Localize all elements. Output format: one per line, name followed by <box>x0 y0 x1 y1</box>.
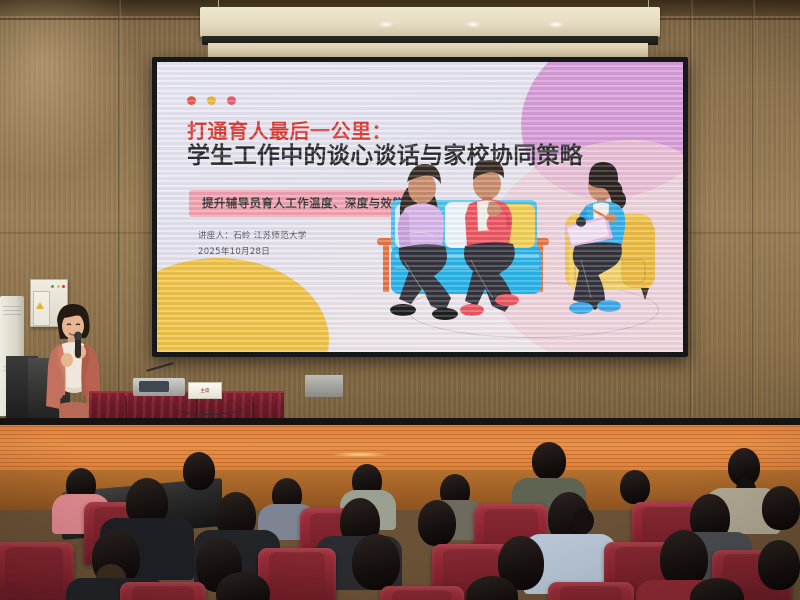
audience-head <box>352 534 400 590</box>
audience-head <box>532 442 566 480</box>
dot-red-icon <box>187 96 196 105</box>
slide-date-line: 2025年10月28日 <box>198 245 307 261</box>
audience-head <box>620 470 650 504</box>
led-green-icon <box>51 285 54 288</box>
audience <box>0 430 800 600</box>
dot-yellow-icon <box>207 96 216 105</box>
auditorium-seat <box>0 542 74 600</box>
counselling-scene-illustration <box>369 142 679 352</box>
audience-head <box>418 500 456 546</box>
projection-screen: 打通育人最后一公里： 学生工作中的谈心谈话与家校协同策略 提升辅导员育人工作温度… <box>152 57 688 357</box>
auditorium-seat <box>548 582 634 600</box>
side-equipment-case <box>305 375 343 397</box>
audience-head <box>762 486 800 530</box>
slide-illustration <box>369 142 679 352</box>
led-yellow-icon <box>57 285 60 288</box>
slide-speaker-line: 讲座人：石岭 江苏师范大学 <box>198 229 307 245</box>
decor-blob-yellow <box>157 258 329 352</box>
slide-meta-block: 讲座人：石岭 江苏师范大学 2025年10月28日 <box>198 229 307 260</box>
audience-head <box>758 540 800 590</box>
lecture-hall-photo: 打通育人最后一公里： 学生工作中的谈心谈话与家校协同策略 提升辅导员育人工作温度… <box>0 0 800 600</box>
led-red-icon <box>62 285 65 288</box>
slide-accent-dots <box>187 96 236 105</box>
presenter-hand-left <box>61 353 73 367</box>
figure-counsellor-right <box>565 162 626 314</box>
dot-pink-icon <box>227 96 236 105</box>
projection-screen-housing <box>200 7 660 37</box>
wall-panel-edge <box>690 0 693 470</box>
projector-lens <box>139 381 169 392</box>
auditorium-seat <box>380 586 464 600</box>
presentation-slide: 打通育人最后一公里： 学生工作中的谈心谈话与家校协同策略 提升辅导员育人工作温度… <box>157 62 683 352</box>
auditorium-seat <box>120 582 206 600</box>
audience-hair-bun <box>572 508 594 534</box>
wainscot-trim <box>0 418 800 425</box>
audience-head <box>183 452 215 490</box>
housing-highlight <box>378 21 394 28</box>
slide-title-accent: 打通育人最后一公里： <box>187 120 607 142</box>
housing-highlight <box>548 21 564 28</box>
wall-panel-edge <box>752 0 755 470</box>
housing-highlight <box>465 21 481 28</box>
